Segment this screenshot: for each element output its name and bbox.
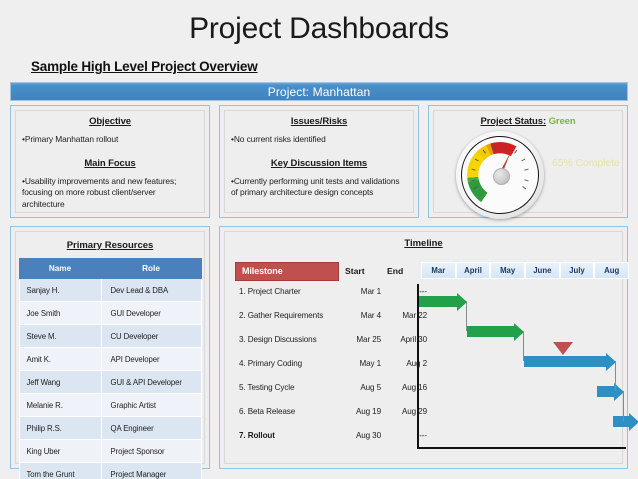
gantt-bar [613, 416, 638, 427]
resource-name: Sanjay H. [19, 279, 101, 302]
milestone-start: Mar 4 [343, 311, 381, 320]
gantt-month-cell: May [490, 262, 525, 279]
col-header-milestone: Milestone [235, 262, 339, 281]
resource-name: Melanie R. [19, 394, 101, 417]
table-row: Jeff WangGUI & API Developer [19, 371, 201, 394]
milestone-start: May 1 [343, 359, 381, 368]
gantt-bar-body [524, 356, 607, 367]
objective-bullet: •Primary Manhattan rollout [16, 134, 204, 146]
milestone-row: 5. Testing CycleAug 5Aug 16 [235, 383, 425, 407]
resources-table: Name Role Sanjay H.Dev Lead & DBAJoe Smi… [19, 258, 202, 479]
col-header-start: Start [345, 262, 365, 281]
objective-panel: Objective •Primary Manhattan rollout Mai… [10, 105, 210, 218]
gantt-bar-body [597, 386, 615, 397]
status-badge: Green [549, 116, 576, 127]
resource-name: Philip R.S. [19, 417, 101, 440]
project-banner: Project: Manhattan [10, 82, 628, 101]
table-row: Philip R.S.QA Engineer [19, 417, 201, 440]
issues-bullet: •No current risks identified [225, 134, 413, 146]
resource-name: Joe Smith [19, 302, 101, 325]
resources-title: Primary Resources [16, 240, 204, 251]
gantt-bar [524, 356, 616, 367]
gantt-month-cell: April [456, 262, 491, 279]
resource-name: Jeff Wang [19, 371, 101, 394]
table-row: Sanjay H.Dev Lead & DBA [19, 279, 201, 302]
milestone-row: 1. Project CharterMar 1--- [235, 287, 425, 311]
table-row: Joe SmithGUI Developer [19, 302, 201, 325]
resource-role: API Developer [101, 348, 201, 371]
status-heading: Project Status: Green [434, 116, 622, 127]
col-header-role: Role [101, 259, 201, 279]
resource-role: CU Developer [101, 325, 201, 348]
resources-panel-inner: Primary Resources Name Role Sanjay H.Dev… [15, 231, 205, 464]
gantt-y-axis [417, 284, 419, 449]
primary-resources-panel: Primary Resources Name Role Sanjay H.Dev… [10, 226, 210, 469]
page-title: Project Dashboards [0, 12, 638, 46]
milestone-name: 5. Testing Cycle [239, 383, 294, 392]
objective-panel-inner: Objective •Primary Manhattan rollout Mai… [15, 110, 205, 213]
gantt-bar-body [613, 416, 629, 427]
resources-table-body: Sanjay H.Dev Lead & DBAJoe SmithGUI Deve… [19, 279, 201, 479]
spacer [16, 169, 204, 176]
timeline-title: Timeline [225, 238, 622, 249]
gantt-connector [466, 301, 467, 331]
milestone-name: 7. Rollout [239, 431, 275, 440]
page-subtitle: Sample High Level Project Overview [31, 59, 258, 74]
timeline-panel: Timeline Milestone Start End 1. Project … [219, 226, 628, 469]
spacer [16, 127, 204, 134]
key-discussion-heading: Key Discussion Items [225, 158, 413, 169]
milestone-name: 6. Beta Release [239, 407, 295, 416]
resource-role: QA Engineer [101, 417, 201, 440]
table-row: Melanie R.Graphic Artist [19, 394, 201, 417]
gantt-connector [615, 361, 616, 391]
milestone-row: 2. Gather RequirementsMar 4Mar 22 [235, 311, 425, 335]
timeline-panel-inner: Timeline Milestone Start End 1. Project … [224, 231, 623, 464]
slide-canvas: Project Dashboards Sample High Level Pro… [0, 0, 638, 479]
resource-role: Graphic Artist [101, 394, 201, 417]
milestone-name: 2. Gather Requirements [239, 311, 323, 320]
milestone-start: Mar 1 [343, 287, 381, 296]
gantt-bar-body [467, 326, 514, 337]
milestone-start: Mar 25 [343, 335, 381, 344]
gantt-milestone-marker-icon [553, 342, 573, 355]
gantt-month-cell: July [560, 262, 595, 279]
gantt-connector [623, 391, 624, 421]
spacer [225, 169, 413, 176]
milestone-name: 1. Project Charter [239, 287, 301, 296]
gantt-connector [523, 331, 524, 361]
resource-role: Dev Lead & DBA [101, 279, 201, 302]
table-row: Steve M.CU Developer [19, 325, 201, 348]
gauge-hub [493, 168, 510, 185]
col-header-end: End [387, 262, 403, 281]
milestone-start: Aug 19 [343, 407, 381, 416]
percent-complete-label: 65% Complete [552, 157, 620, 169]
spacer [225, 146, 413, 153]
table-row: Tom the GruntProject Manager [19, 463, 201, 479]
resource-role: GUI Developer [101, 302, 201, 325]
milestone-name: 4. Primary Coding [239, 359, 302, 368]
resource-name: Steve M. [19, 325, 101, 348]
gantt-x-axis [417, 447, 626, 449]
spacer [225, 127, 413, 134]
resource-role: Project Manager [101, 463, 201, 479]
milestone-header-row: Milestone Start End [235, 262, 415, 281]
table-row: Amit K.API Developer [19, 348, 201, 371]
gantt-bar [419, 296, 467, 307]
gantt-bar-arrow-icon [629, 413, 638, 431]
gantt-month-cell: Mar [421, 262, 456, 279]
resources-header-row: Name Role [19, 259, 201, 279]
gantt-month-cell: June [525, 262, 560, 279]
issues-risks-panel: Issues/Risks •No current risks identifie… [219, 105, 419, 218]
milestone-row: 6. Beta ReleaseAug 19Aug 29 [235, 407, 425, 431]
status-panel-inner: Project Status: Green [433, 110, 623, 213]
timeline-body: Milestone Start End 1. Project CharterMa… [225, 254, 622, 463]
status-label: Project Status: [480, 116, 546, 127]
gantt-month-header: MarAprilMayJuneJulyAug [421, 262, 629, 279]
gantt-chart: MarAprilMayJuneJulyAug [411, 254, 618, 461]
resource-name: Tom the Grunt [19, 463, 101, 479]
resource-role: Project Sponsor [101, 440, 201, 463]
resource-role: GUI & API Developer [101, 371, 201, 394]
milestone-row: 4. Primary CodingMay 1Aug 2 [235, 359, 425, 383]
milestone-start: Aug 5 [343, 383, 381, 392]
resource-name: Amit K. [19, 348, 101, 371]
gantt-month-cell: Aug [594, 262, 629, 279]
gantt-bar [467, 326, 523, 337]
milestone-row: 3. Design DiscussionsMar 25April 30 [235, 335, 425, 359]
issues-panel-inner: Issues/Risks •No current risks identifie… [224, 110, 414, 213]
main-focus-heading: Main Focus [16, 158, 204, 169]
issues-heading: Issues/Risks [225, 116, 413, 127]
gantt-bar-body [419, 296, 458, 307]
col-header-name: Name [19, 259, 101, 279]
spacer [16, 146, 204, 153]
key-discussion-text: •Currently performing unit tests and val… [225, 176, 413, 199]
milestone-start: Aug 30 [343, 431, 381, 440]
resource-name: King Uber [19, 440, 101, 463]
objective-heading: Objective [16, 116, 204, 127]
milestone-row: 7. RolloutAug 30--- [235, 431, 425, 455]
project-status-panel: Project Status: Green [428, 105, 628, 218]
milestone-name: 3. Design Discussions [239, 335, 317, 344]
status-gauge [456, 131, 544, 219]
gantt-bar [597, 386, 624, 397]
table-row: King UberProject Sponsor [19, 440, 201, 463]
main-focus-text: •Usability improvements and new features… [16, 176, 204, 211]
